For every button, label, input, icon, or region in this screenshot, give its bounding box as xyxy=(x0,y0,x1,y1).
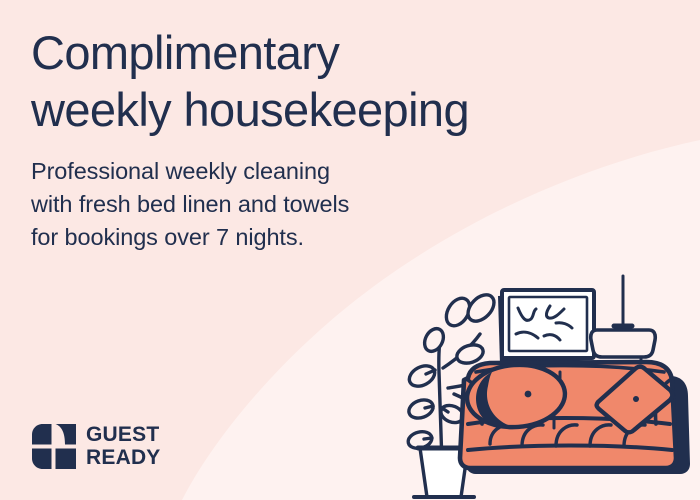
body-line-2: with fresh bed linen and towels xyxy=(31,188,631,221)
logo-word-guest: GUEST xyxy=(86,424,161,447)
promo-banner: Complimentary weekly housekeeping Profes… xyxy=(0,0,700,500)
framed-artwork-icon xyxy=(498,290,594,364)
body-line-1: Professional weekly cleaning xyxy=(31,155,631,188)
headline-line-2: weekly housekeeping xyxy=(31,81,631,138)
guestready-logo: GUEST READY xyxy=(32,424,161,469)
guestready-quadrant-mark-icon xyxy=(32,424,76,469)
living-room-illustration xyxy=(398,268,700,500)
headline-line-1: Complimentary xyxy=(31,24,631,81)
body-line-3: for bookings over 7 nights. xyxy=(31,221,631,254)
logo-wordmark: GUEST READY xyxy=(86,424,161,469)
text-block: Complimentary weekly housekeeping Profes… xyxy=(31,24,631,254)
body-copy: Professional weekly cleaning with fresh … xyxy=(31,155,631,254)
logo-word-ready: READY xyxy=(86,447,161,470)
